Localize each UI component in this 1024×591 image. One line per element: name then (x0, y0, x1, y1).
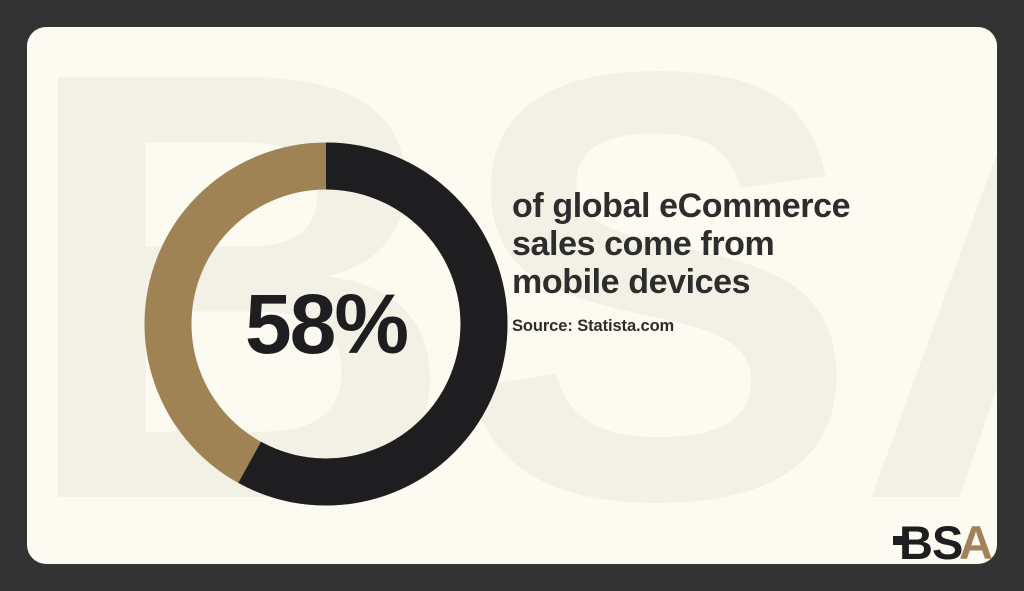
text-block: of global eCommerce sales come from mobi… (512, 187, 942, 336)
logo-text-bs: BS (899, 516, 962, 564)
bsa-logo: BS A (893, 514, 997, 564)
donut-chart: 58% (117, 115, 535, 533)
headline-line-1: of global eCommerce (512, 187, 942, 225)
source-attribution: Source: Statista.com (512, 317, 942, 336)
screenshot-root: BSA 58% of global eCommerce sales come f… (0, 0, 1024, 591)
headline: of global eCommerce sales come from mobi… (512, 187, 942, 301)
donut-center-value: 58% (117, 115, 535, 533)
infographic-card: BSA 58% of global eCommerce sales come f… (27, 27, 997, 564)
headline-line-3: mobile devices (512, 263, 942, 301)
headline-line-2: sales come from (512, 225, 942, 263)
logo-text-a: A (959, 516, 992, 564)
